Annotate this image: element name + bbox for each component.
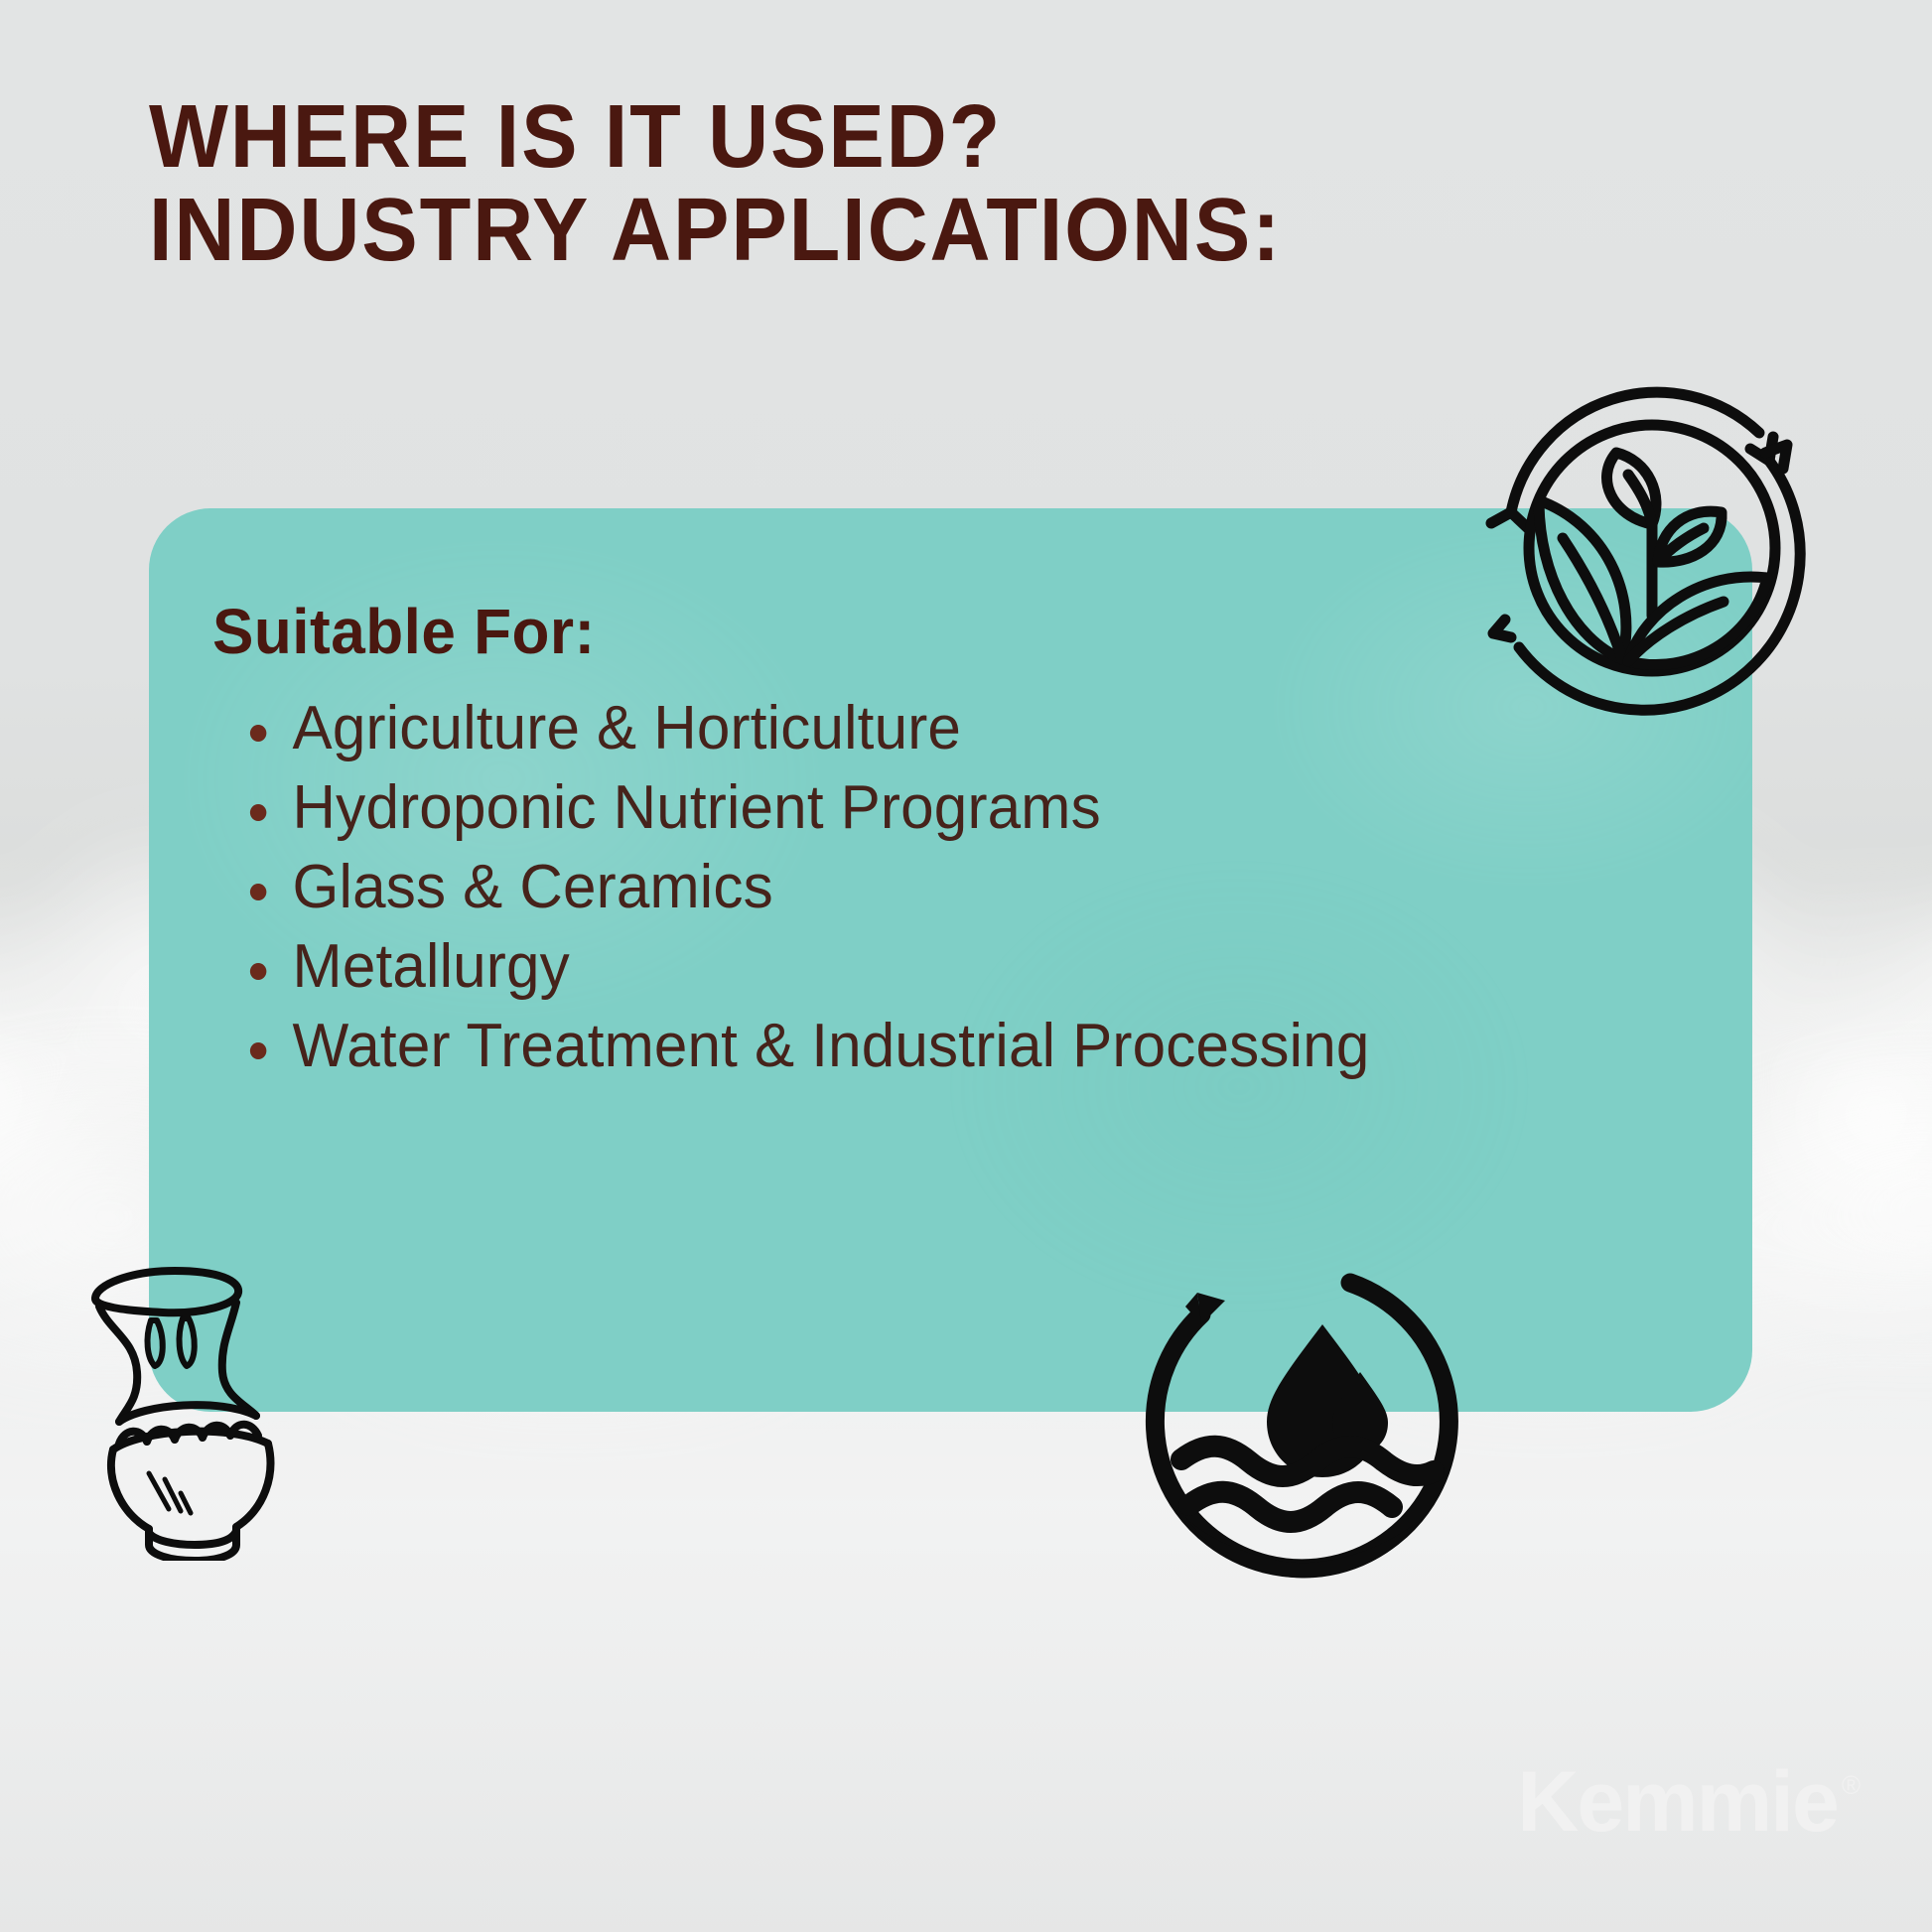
poster-canvas: WHERE IS IT USED? INDUSTRY APPLICATIONS:… [0,0,1932,1932]
page-title: WHERE IS IT USED? INDUSTRY APPLICATIONS: [149,91,1549,277]
brand-logo-wordmark: Kemmie [1517,1764,1838,1841]
registered-trademark-icon: ® [1842,1772,1861,1798]
brand-logo: Kemmie ® [1517,1764,1861,1841]
ceramic-vase-icon [71,1263,320,1561]
suitable-for-heading: Suitable For: [212,600,1668,663]
list-item: Water Treatment & Industrial Processing [246,1007,1669,1086]
page-title-line-1: WHERE IS IT USED? [149,91,1549,185]
recycle-plant-icon [1453,349,1851,747]
page-title-line-2: INDUSTRY APPLICATIONS: [149,185,1549,278]
list-item: Hydroponic Nutrient Programs [246,768,1669,848]
list-item: Metallurgy [246,927,1669,1007]
water-recycling-icon [1140,1267,1467,1594]
applications-list: Agriculture & Horticulture Hydroponic Nu… [212,689,1713,1086]
list-item: Glass & Ceramics [246,848,1669,927]
